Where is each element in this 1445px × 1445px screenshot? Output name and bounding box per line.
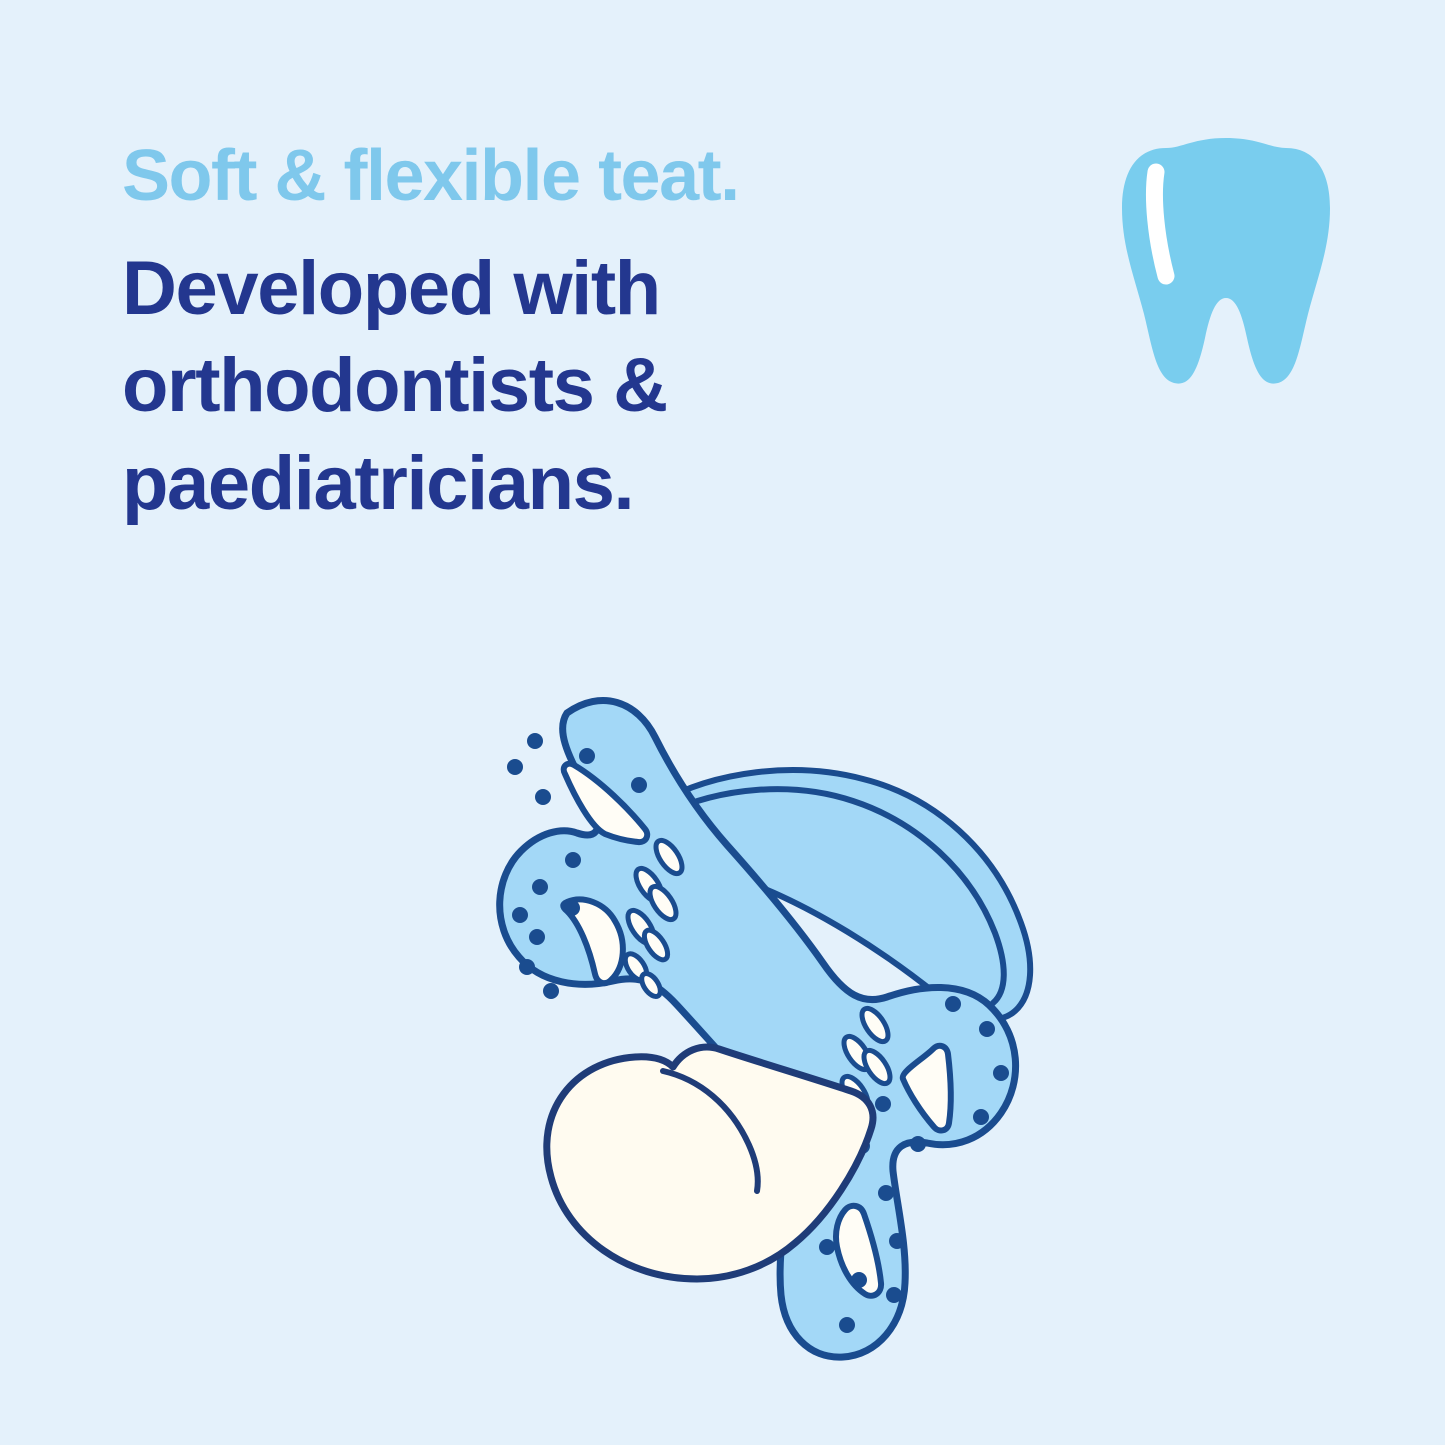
headline-line-1: Developed with bbox=[122, 240, 1082, 337]
eyebrow-text: Soft & flexible teat. bbox=[122, 140, 1082, 212]
product-feature-card: Soft & flexible teat. Developed with ort… bbox=[0, 0, 1445, 1445]
copy-block: Soft & flexible teat. Developed with ort… bbox=[122, 140, 1082, 532]
page-title: Developed with orthodontists & paediatri… bbox=[122, 240, 1082, 532]
pacifier-illustration bbox=[415, 675, 1055, 1375]
tooth-icon bbox=[1118, 126, 1334, 394]
pacifier-group bbox=[500, 701, 1030, 1358]
headline-line-3: paediatricians. bbox=[122, 435, 1082, 532]
headline-line-2: orthodontists & bbox=[122, 337, 1082, 434]
